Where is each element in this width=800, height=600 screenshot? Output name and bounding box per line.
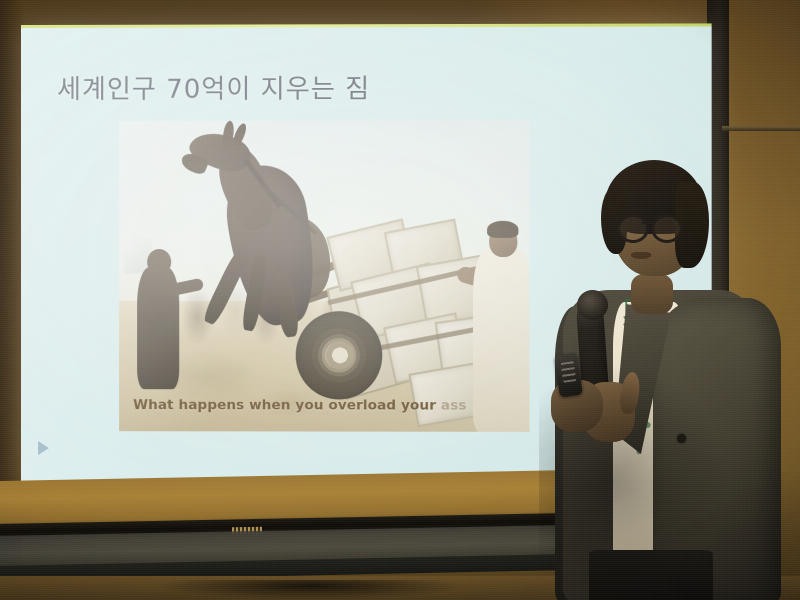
presenter: 日本 将棋 — [527, 148, 800, 600]
photo-caption-obscured: ass — [436, 398, 467, 414]
slide-advance-triangle-icon[interactable] — [38, 441, 49, 455]
door-frame-rail — [722, 126, 800, 131]
presenter-trousers — [589, 550, 713, 600]
clicker-buttons[interactable] — [561, 361, 577, 383]
cart-wheel-hub — [326, 341, 354, 369]
photo-porter-hair — [487, 221, 518, 238]
slide-title: 세계인구 70억이 지우는 짐 — [57, 68, 370, 106]
glasses-lens-left — [617, 214, 649, 243]
photo-bystander-head — [147, 249, 171, 275]
floor-shadow — [140, 580, 480, 600]
photo-caption: What happens when you overload your ass — [133, 397, 466, 414]
glasses-bridge — [642, 221, 653, 224]
presenter-neck — [631, 274, 673, 314]
presenter-mouth — [631, 252, 651, 259]
slide-photo: What happens when you overload your ass — [119, 120, 529, 432]
jacket-button — [677, 434, 686, 443]
slide-accent-line — [21, 23, 712, 28]
photo-porter-body — [473, 249, 530, 432]
glasses-lens-right — [651, 214, 683, 243]
presentation-photo-scene: 세계인구 70억이 지우는 짐 — [0, 0, 800, 600]
photo-caption-visible: What happens when you overload your — [133, 397, 436, 413]
microphone-head[interactable] — [577, 290, 608, 320]
